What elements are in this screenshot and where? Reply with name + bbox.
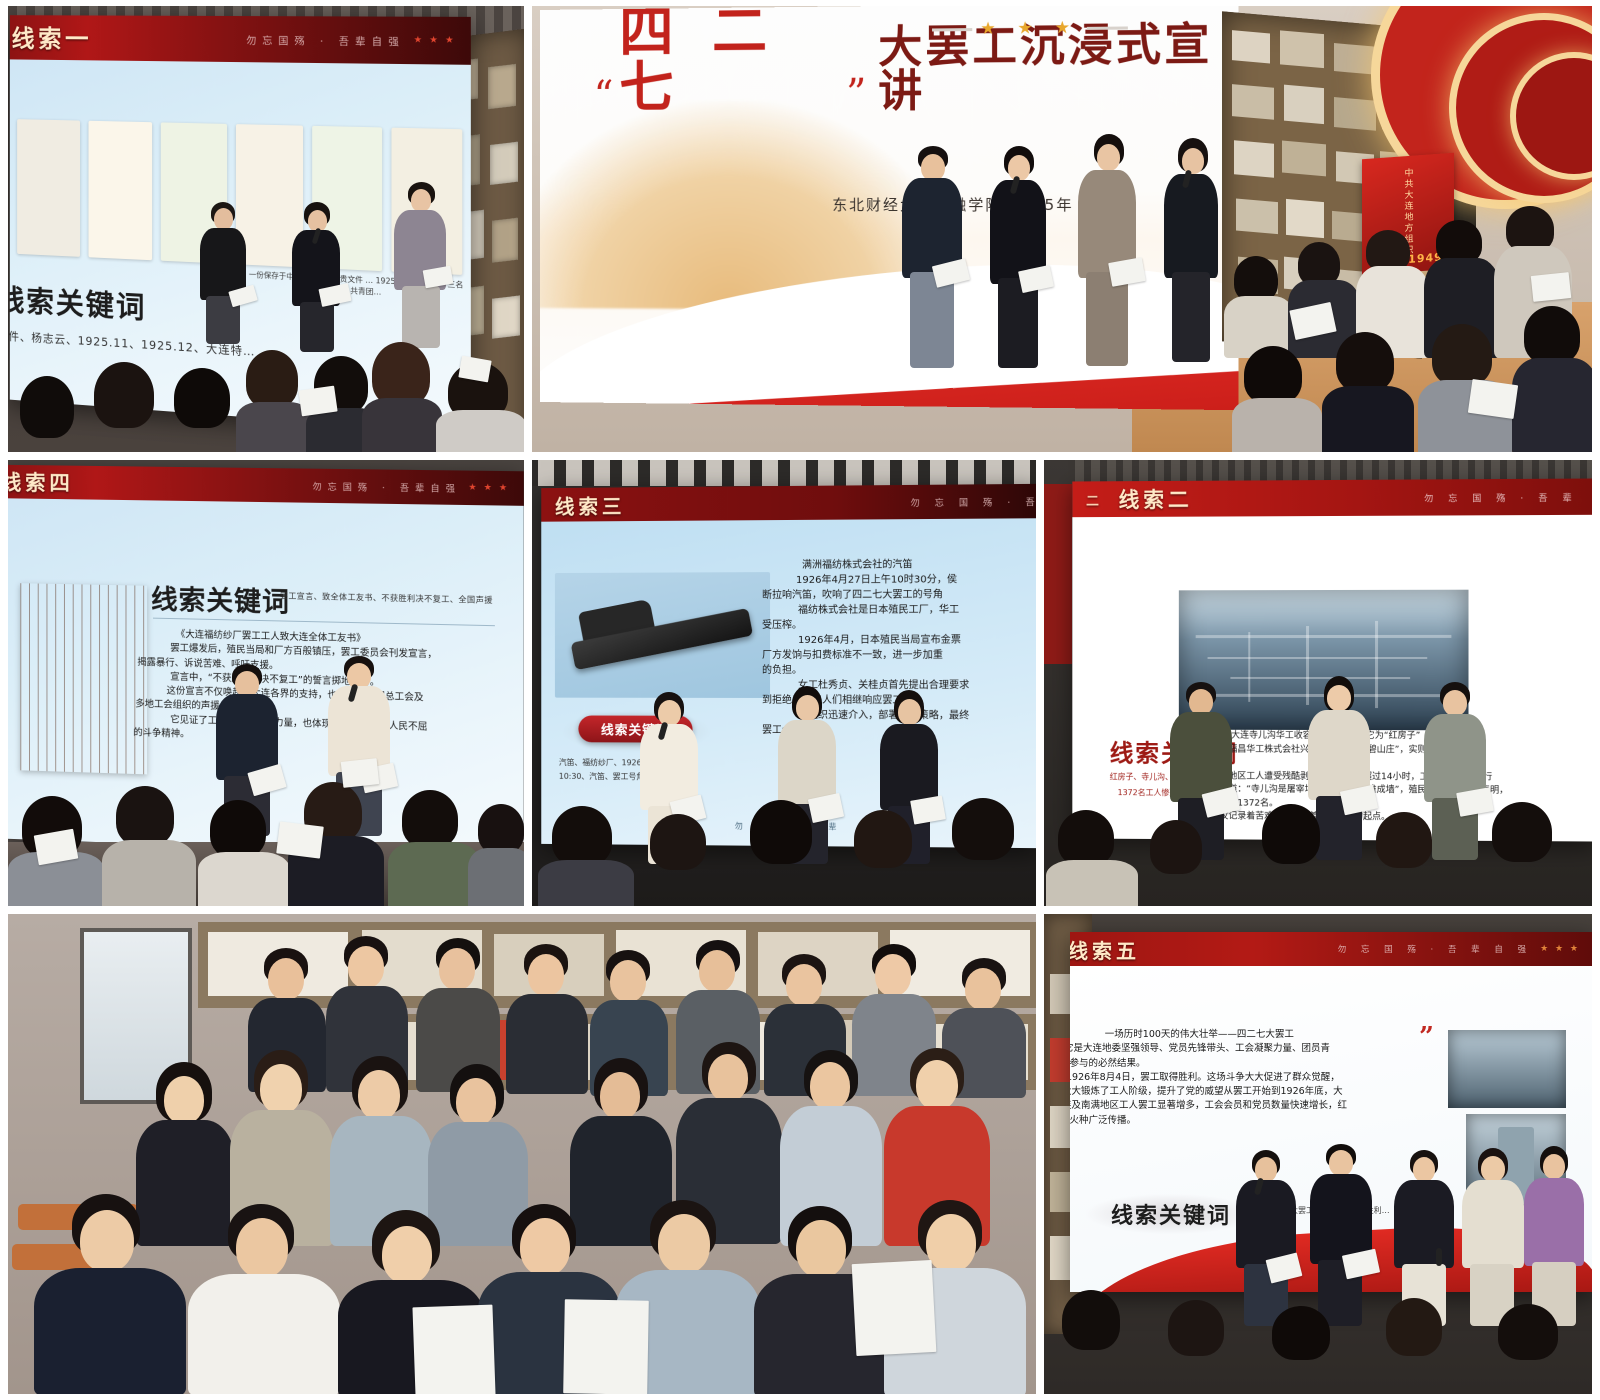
slide-paragraph: 受压榨。: [762, 617, 1036, 633]
slide-motto: 勿 忘 国 殇 · 吾 辈 自 强: [1338, 943, 1532, 955]
slide-motto: 勿忘国殇 · 吾辈自强: [313, 479, 462, 494]
clue-label: 线索二: [1119, 484, 1193, 514]
panel-group-photo: [8, 914, 1036, 1394]
stars-icon: ★ ★ ★: [980, 18, 1078, 39]
slide-paragraphs: 一场历时100天的伟大壮举——四二七大罢工 它是大连地委坚强领导、党员先锋带头、…: [1082, 1028, 1402, 1128]
handout-paper: [852, 1260, 937, 1356]
slide-paragraph: 的负担。: [762, 663, 1036, 678]
presenter: [392, 182, 450, 350]
presenter: [900, 146, 964, 366]
slide-paragraph: 它由日本福昌华工株式会社兴建，美其名曰“碧山庄”，实则是关押、压榨: [1193, 743, 1582, 758]
slide-motto: 勿 忘 国 殇 · 吾 辈: [911, 494, 1036, 508]
open-quote: “: [594, 76, 614, 115]
stars-icon: ★ ★ ★: [414, 35, 456, 46]
presenter: [196, 202, 248, 342]
manuscript-image: [20, 583, 147, 774]
side-panel-decoration: [1044, 484, 1072, 664]
clue-label: 线索四: [8, 467, 74, 498]
slide-paragraph: 1926年4月，日本殖民当局宣布金票: [788, 633, 1036, 648]
slide-banner: 二 线索二 勿 忘 国 殇 · 吾 辈: [1072, 478, 1592, 517]
stars-icon: ★ ★ ★: [468, 483, 509, 494]
clue-label: 线索五: [1070, 935, 1140, 964]
panel-clue-2: 二 线索二 勿 忘 国 殇 · 吾 辈 线索关键词 红房子、寺儿沟、华工收容所、: [1044, 460, 1592, 906]
slide-paragraph: 地狱。: [1193, 757, 1582, 772]
panel-main-title: “ 四 二 七 ” 大罢工沉浸式宣讲 ★ ★ ★ 东北财经大学金融学院 2025…: [532, 6, 1592, 452]
slide-banner: 线索三 勿 忘 国 殇 · 吾 辈: [541, 484, 1036, 522]
steam-whistle-photo: [555, 572, 770, 698]
presenter: [1162, 138, 1220, 362]
stars-decoration: ★ ★ ★: [932, 17, 1127, 39]
slide-paragraph: 1926年8月4日，罢工取得胜利。这场斗争大大促进了群众觉醒，: [1070, 1071, 1402, 1085]
keyword-line: 罢工宣言、致全体工友书、不获胜利决不复工、全国声援: [280, 590, 493, 605]
slide-paragraph: 歌谣中写道：“寺儿沟是屠宰场，华工的尸骨堆成墙”，殖民者留下的数据表明，: [1193, 783, 1582, 798]
quote-mark-icon: ”: [1419, 1022, 1434, 1052]
panel-clue-1: 线索一 勿忘国殇 · 吾辈自强 ★ ★ ★ 线索关键词 文件、杨志云、1925.…: [8, 6, 524, 452]
slide-paragraph: 断拉响汽笛，吹响了四二七大罢工的号角: [762, 587, 1036, 603]
keyword-title: 线索关键词: [1111, 1198, 1231, 1230]
divider: [153, 618, 495, 627]
slide-paragraph: 满洲福纺株式会社的汽笛: [788, 557, 1036, 573]
handout-paper: [563, 1299, 649, 1394]
historical-photo-factory: [1448, 1030, 1566, 1108]
slide-paragraph: 大大锻炼了工人阶级，提升了党的威望从罢工开始到1926年底，大: [1070, 1085, 1402, 1099]
photo-collage: 线索一 勿忘国殇 · 吾辈自强 ★ ★ ★ 线索关键词 文件、杨志云、1925.…: [0, 0, 1600, 1400]
slide-paragraph: 极参与的必然结果。: [1070, 1057, 1402, 1071]
slide-motto: 勿忘国殇 · 吾辈自强: [246, 32, 405, 48]
slide-paragraph: 连及南满地区工人罢工显著增多，工会会员和党员数量快速增长，红: [1070, 1099, 1402, 1113]
slide-paragraph: 一场历时100天的伟大壮举——四二七大罢工: [1082, 1028, 1402, 1042]
slide-paragraph: 1926年4月27日上午10时30分，侯: [788, 572, 1036, 588]
title-red: 四 二 七: [619, 6, 840, 115]
clue-label: 线索三: [555, 490, 626, 519]
stars-icon: ★ ★ ★: [1540, 944, 1580, 954]
slide-paragraph: 它是大连地委坚强领导、党员先锋带头、工会凝聚力量、团员青: [1070, 1042, 1402, 1056]
panel-clue-5: 线索五 勿 忘 国 殇 · 吾 辈 自 强 ★ ★ ★ ” 一场历时100天的伟…: [1044, 914, 1592, 1394]
slide-paragraph: 厂方发饷与扣费标准不一致，进一步加重: [762, 648, 1036, 663]
main-title-block: “ 四 二 七 ” 大罢工沉浸式宣讲: [594, 27, 1214, 116]
clue-index: 二: [1086, 490, 1103, 509]
panel-clue-3: 线索三 勿 忘 国 殇 · 吾 辈 线索关键词 汽笛、福纺纱厂、1926.4.2…: [532, 460, 1036, 906]
keyword-title: 线索关键词: [10, 276, 147, 327]
slide-motto: 勿 忘 国 殇 · 吾 辈: [1424, 490, 1578, 504]
clue-label: 线索一: [12, 20, 93, 55]
keyword-title: 线索关键词: [151, 578, 290, 620]
close-quote: ”: [846, 74, 866, 114]
slide-paragraph: 色火种广泛传播。: [1070, 1114, 1402, 1128]
slide-paragraph: 大连寺儿沟华工收容所，工人们称它为“红房子”: [1220, 730, 1581, 744]
handout-paper: [412, 1305, 495, 1394]
panel-clue-4: 线索四 勿忘国殇 · 吾辈自强 ★ ★ ★ 线索关键词 罢工宣言、致全体工友书、…: [8, 460, 524, 906]
slide-banner: 线索一 勿忘国殇 · 吾辈自强 ★ ★ ★: [10, 15, 471, 65]
slide-paragraph: 福纺株式会社是日本殖民工厂，华工: [788, 602, 1036, 618]
slide-banner: 线索五 勿 忘 国 殇 · 吾 辈 自 强 ★ ★ ★: [1070, 932, 1592, 966]
keyword-halo: 线索关键词: [1086, 1194, 1256, 1234]
spool-decoration: [532, 460, 1036, 486]
keyword-line: 10:30、汽笛、罢工号角: [559, 771, 644, 782]
presenter: [988, 146, 1048, 366]
presenter: [290, 202, 342, 352]
presenter: [1076, 134, 1138, 366]
